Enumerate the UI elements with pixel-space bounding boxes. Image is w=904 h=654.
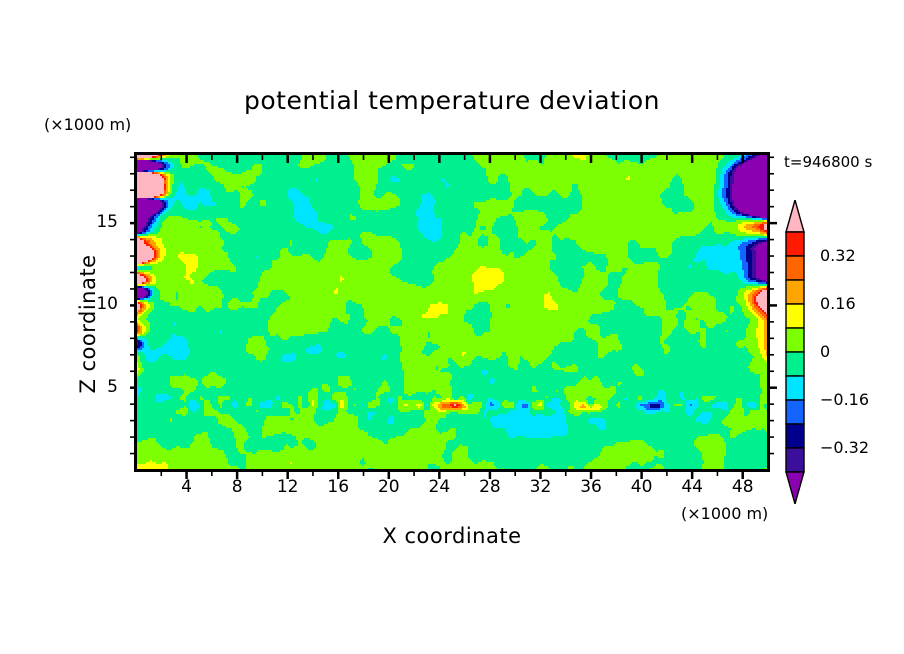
title-text: potential temperature deviation bbox=[244, 86, 660, 115]
page-title: potential temperature deviation bbox=[0, 86, 904, 115]
x-tick-label: 12 bbox=[268, 477, 308, 497]
x-tick-label: 4 bbox=[167, 477, 207, 497]
plot-frame-and-ticks bbox=[130, 148, 790, 498]
colorbar-tick-label: 0.32 bbox=[820, 246, 856, 265]
x-tick-label: 8 bbox=[217, 477, 257, 497]
colorbar-tick-label: −0.32 bbox=[820, 438, 869, 457]
x-tick-label: 40 bbox=[622, 477, 662, 497]
x-tick-label: 20 bbox=[369, 477, 409, 497]
x-tick-label: 36 bbox=[571, 477, 611, 497]
x-tick-label: 48 bbox=[723, 477, 763, 497]
x-tick-label: 44 bbox=[672, 477, 712, 497]
y-axis-title: Z coordinate bbox=[76, 209, 100, 439]
x-tick-label: 32 bbox=[520, 477, 560, 497]
colorbar-tick-label: −0.16 bbox=[820, 390, 869, 409]
x-axis-title: X coordinate bbox=[136, 524, 768, 548]
y-axis-unit-label: (×1000 m) bbox=[44, 115, 131, 134]
figure-canvas: potential temperature deviation (×1000 m… bbox=[0, 0, 904, 654]
y-tick-label: 5 bbox=[78, 377, 118, 397]
y-tick-label: 10 bbox=[78, 294, 118, 314]
x-axis-unit-label: (×1000 m) bbox=[681, 504, 768, 523]
x-tick-label: 16 bbox=[318, 477, 358, 497]
colorbar-tick-label: 0.16 bbox=[820, 294, 856, 313]
colorbar-tick-label: 0 bbox=[820, 342, 830, 361]
colorbar bbox=[780, 200, 810, 504]
x-tick-label: 24 bbox=[419, 477, 459, 497]
y-tick-label: 15 bbox=[78, 212, 118, 232]
x-tick-label: 28 bbox=[470, 477, 510, 497]
time-annotation: t=946800 s bbox=[784, 153, 872, 171]
